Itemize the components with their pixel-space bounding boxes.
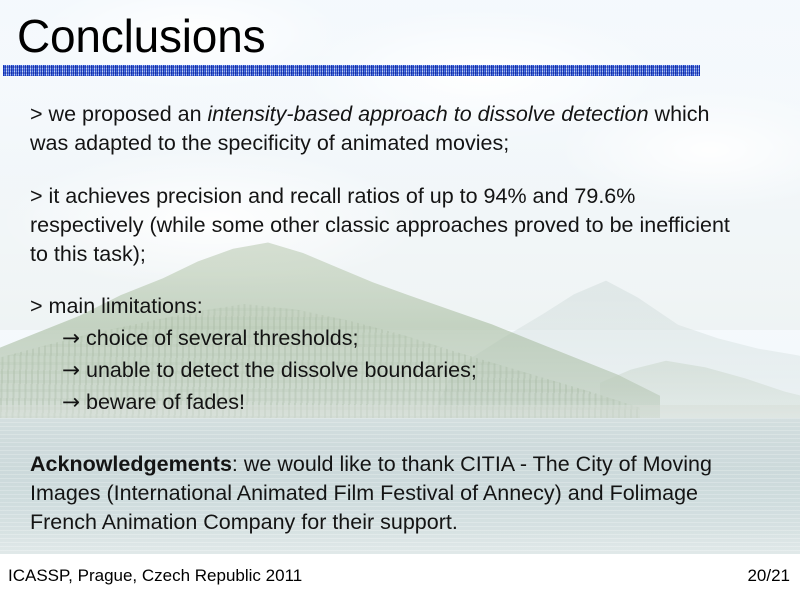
bullet-item: > it achieves precision and recall ratio…	[30, 182, 730, 269]
acknowledgements-separator: :	[232, 452, 244, 476]
footer-page-number: 20/21	[747, 565, 790, 587]
arrow-right-icon: →	[62, 326, 80, 351]
acknowledgements-label: Acknowledgements	[30, 452, 232, 476]
bullet-item: > we proposed an intensity-based approac…	[30, 100, 730, 158]
limitation-text: choice of several thresholds;	[86, 326, 358, 350]
limitation-item: → choice of several thresholds;	[30, 324, 730, 353]
bullet-text: it achieves precision and recall ratios …	[30, 184, 730, 266]
bullet-text-emphasis: intensity-based approach to dissolve det…	[208, 102, 649, 126]
limitations-heading: main limitations:	[49, 294, 203, 318]
bullet-marker: >	[30, 294, 43, 318]
limitation-text: beware of fades!	[86, 390, 245, 414]
slide-body: > we proposed an intensity-based approac…	[0, 0, 800, 554]
limitation-item: → beware of fades!	[30, 388, 730, 417]
acknowledgements-block: Acknowledgements: we would like to thank…	[30, 450, 730, 537]
arrow-right-icon: →	[62, 390, 80, 415]
limitation-item: → unable to detect the dissolve boundari…	[30, 356, 730, 385]
bullet-text-plain: we proposed an	[49, 102, 208, 126]
bullet-marker: >	[30, 102, 43, 126]
limitations-block: > main limitations: → choice of several …	[30, 292, 730, 417]
footer-conference-label: ICASSP, Prague, Czech Republic 2011	[8, 565, 302, 587]
limitation-text: unable to detect the dissolve boundaries…	[86, 358, 477, 382]
presentation-slide: Conclusions > we proposed an intensity-b…	[0, 0, 800, 598]
arrow-right-icon: →	[62, 358, 80, 383]
bullet-marker: >	[30, 184, 43, 208]
